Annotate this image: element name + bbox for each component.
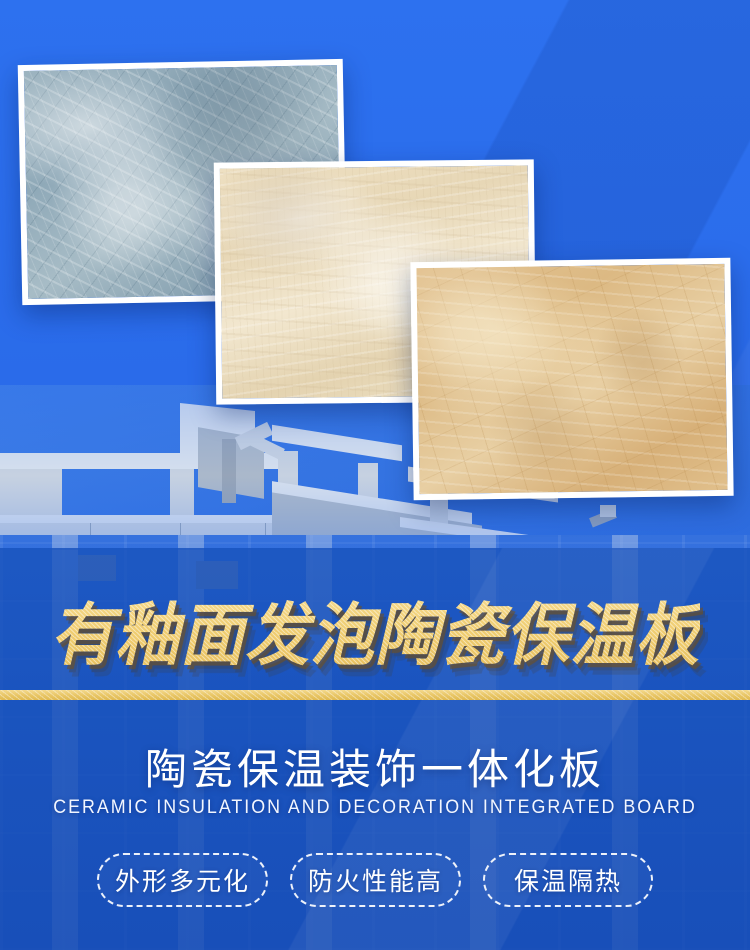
feature-pill-list: 外形多元化 防火性能高 保温隔热 (0, 853, 750, 907)
page-title: 有釉面发泡陶瓷保温板 (50, 581, 700, 679)
subtitle-english: CERAMIC INSULATION AND DECORATION INTEGR… (23, 797, 728, 819)
subtitle-chinese: 陶瓷保温装饰一体化板 (0, 736, 750, 797)
feature-pill-1[interactable]: 外形多元化 (97, 853, 268, 907)
golden-marble-texture (416, 264, 727, 494)
tile-sample-3[interactable] (410, 258, 733, 500)
feature-pill-2[interactable]: 防火性能高 (290, 853, 461, 907)
headline-container: 有釉面发泡陶瓷保温板 (0, 584, 750, 676)
product-poster: 有釉面发泡陶瓷保温板 陶瓷保温装饰一体化板 CERAMIC INSULATION… (0, 0, 750, 950)
feature-pill-3[interactable]: 保温隔热 (483, 853, 653, 907)
gold-divider (0, 690, 750, 700)
